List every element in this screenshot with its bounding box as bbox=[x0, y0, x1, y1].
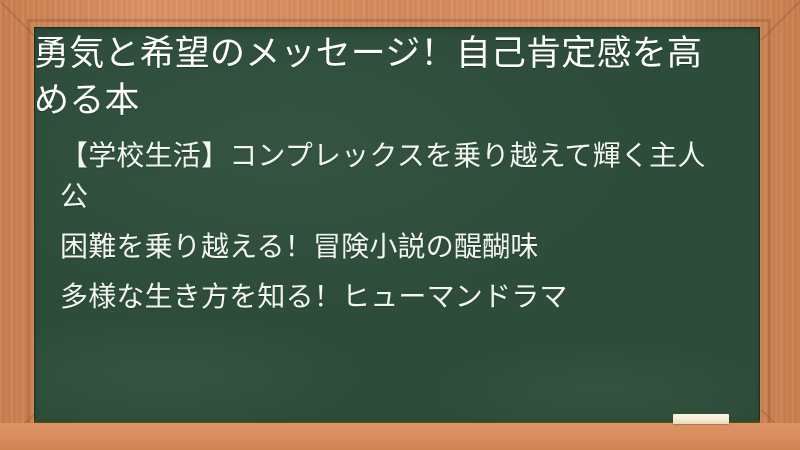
slide-canvas: 勇気と希望のメッセージ！自己肯定感を高める本 【学校生活】コンプレックスを乗り越… bbox=[0, 0, 800, 450]
list-item: 多様な生き方を知る！ヒューマンドラマ bbox=[34, 276, 734, 317]
board-content: 勇気と希望のメッセージ！自己肯定感を高める本 【学校生活】コンプレックスを乗り越… bbox=[34, 27, 760, 422]
topic-list: 【学校生活】コンプレックスを乗り越えて輝く主人公 困難を乗り越える！冒険小説の醍… bbox=[34, 135, 734, 317]
list-item: 困難を乗り越える！冒険小説の醍醐味 bbox=[34, 226, 734, 267]
chalk-tray bbox=[0, 423, 800, 450]
page-title: 勇気と希望のメッセージ！自己肯定感を高める本 bbox=[34, 31, 738, 125]
list-item: 【学校生活】コンプレックスを乗り越えて輝く主人公 bbox=[34, 135, 734, 217]
chalk-stick-icon bbox=[673, 414, 729, 424]
miter-top-right bbox=[760, 0, 800, 41]
